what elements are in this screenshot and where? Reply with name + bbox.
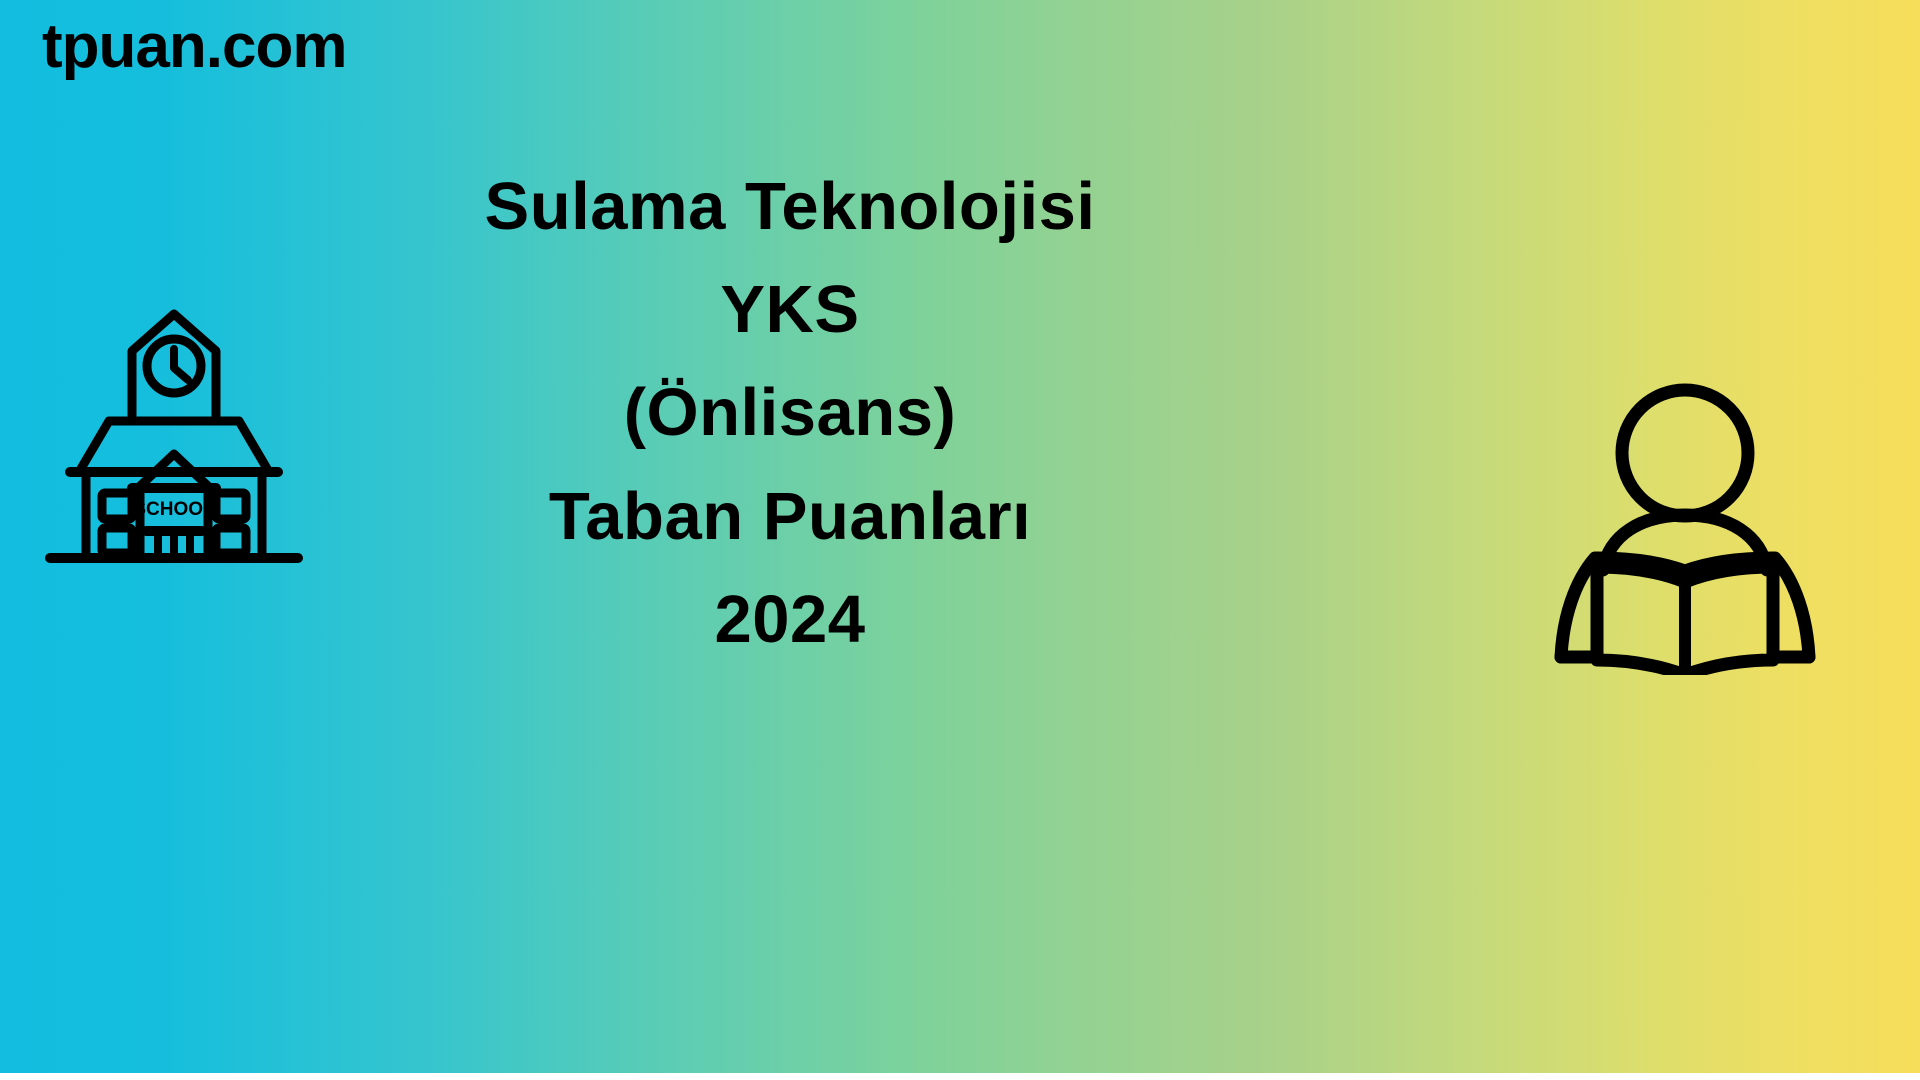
school-sign-text: SCHOOL [133, 499, 215, 520]
headline-line-year: 2024 [380, 568, 1200, 671]
person-reading-book-icon [1545, 375, 1825, 675]
school-building-icon: SCHOOL [34, 288, 314, 573]
headline-line-exam: YKS [380, 258, 1200, 361]
banner-headline: Sulama Teknolojisi YKS (Önlisans) Taban … [380, 155, 1200, 671]
promo-banner: tpuan.com [0, 0, 1920, 1073]
headline-line-degree: (Önlisans) [380, 361, 1200, 464]
headline-line-program: Sulama Teknolojisi [380, 155, 1200, 258]
bottom-white-strip [0, 1073, 1920, 1080]
headline-line-score: Taban Puanları [380, 465, 1200, 568]
site-logo[interactable]: tpuan.com [42, 8, 346, 86]
